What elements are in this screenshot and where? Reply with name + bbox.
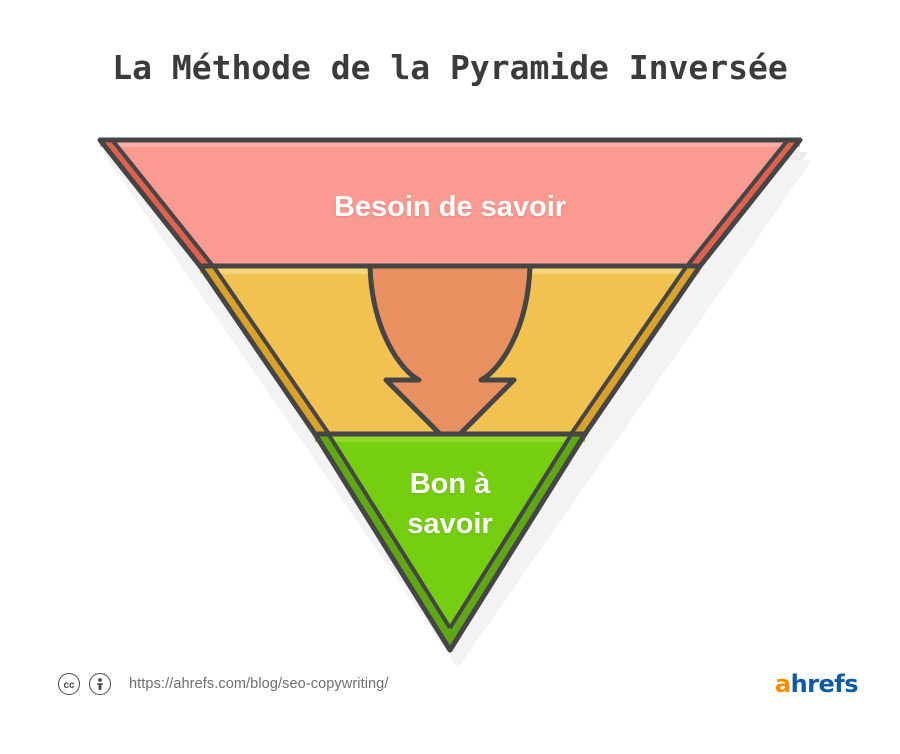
license-block[interactable]: cc https://ahrefs.com/blog/seo-copywriti… (58, 668, 388, 700)
creative-commons-icon[interactable]: cc (58, 673, 80, 695)
inverted-pyramid-diagram (0, 0, 900, 754)
source-url[interactable]: https://ahrefs.com/blog/seo-copywriting/ (129, 676, 388, 692)
ahrefs-logo-text: hrefs (791, 670, 858, 698)
pyramid-layer-need-to-know[interactable] (100, 140, 800, 266)
ahrefs-logo-accent: a (775, 670, 791, 698)
svg-text:cc: cc (63, 680, 75, 691)
ahrefs-logo[interactable]: ahrefs (775, 670, 858, 698)
layer-need-face (100, 140, 800, 266)
attribution-person-icon[interactable] (89, 673, 111, 695)
infographic-canvas: La Méthode de la Pyramide Inversée (0, 0, 900, 754)
footer: cc https://ahrefs.com/blog/seo-copywriti… (0, 668, 900, 708)
